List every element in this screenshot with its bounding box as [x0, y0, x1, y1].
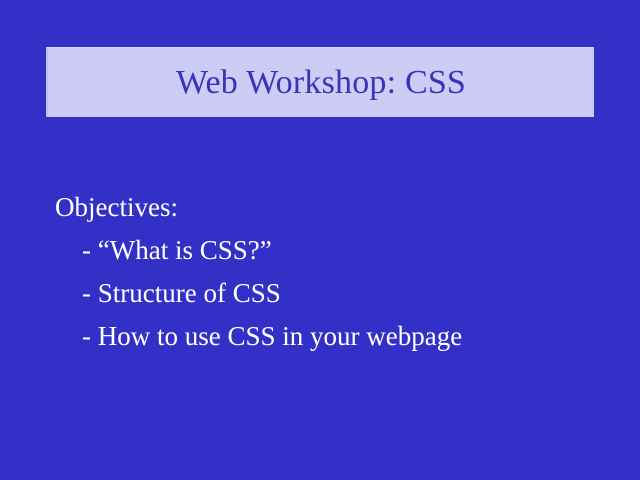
- list-item: - Structure of CSS: [55, 272, 595, 315]
- slide-canvas: Web Workshop: CSS Objectives: - “What is…: [0, 0, 640, 480]
- list-item: - How to use CSS in your webpage: [55, 315, 595, 358]
- list-item: - “What is CSS?”: [55, 229, 595, 272]
- title-placeholder: Web Workshop: CSS: [46, 47, 594, 117]
- page-title: Web Workshop: CSS: [176, 66, 466, 100]
- content-placeholder: Objectives: - “What is CSS?” - Structure…: [55, 186, 595, 358]
- objectives-heading: Objectives:: [55, 186, 595, 229]
